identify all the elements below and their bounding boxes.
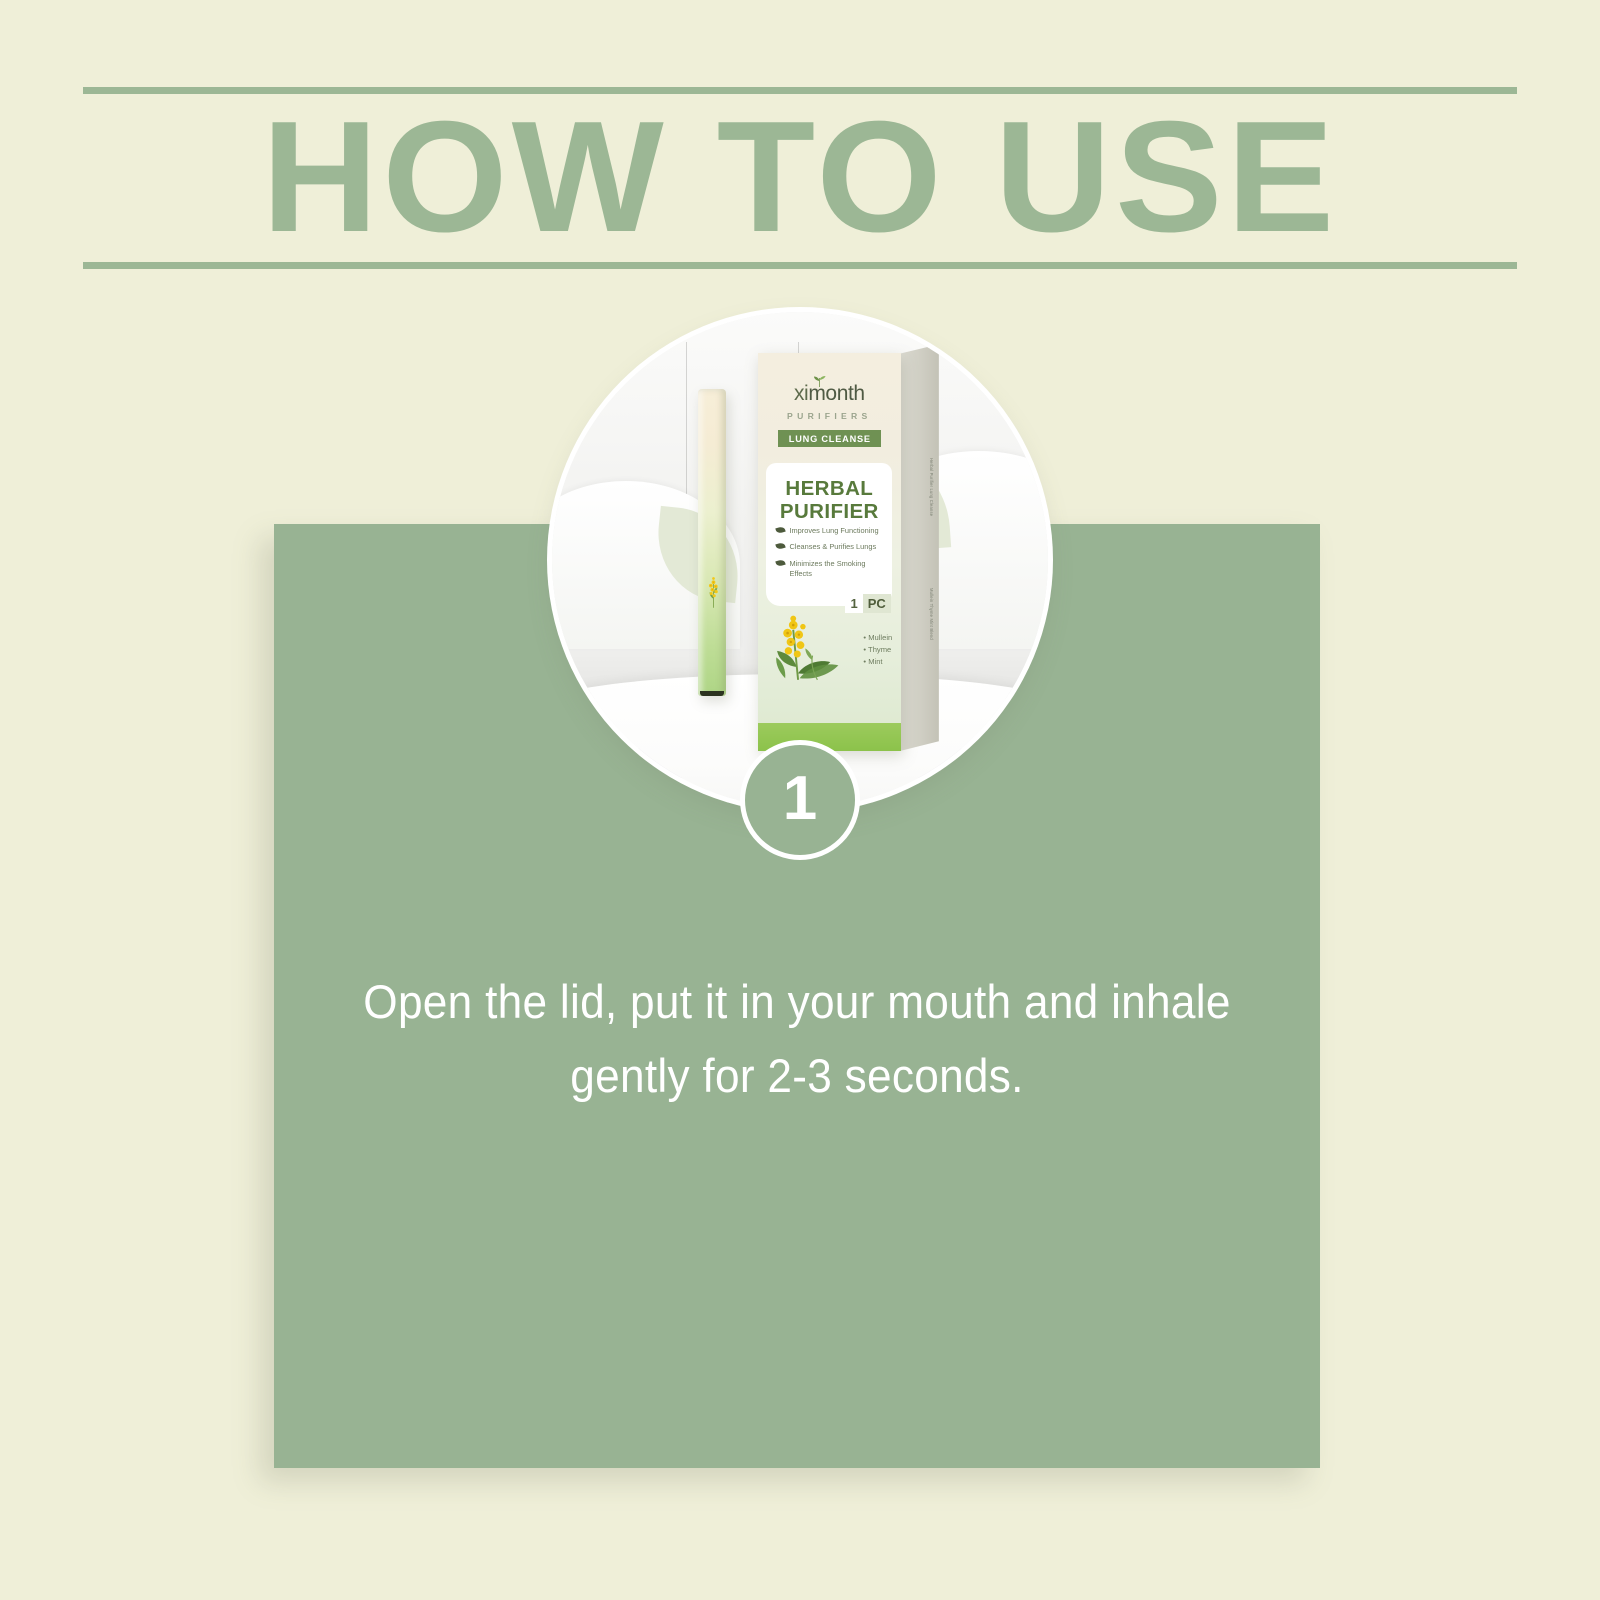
botanical-illustration: [761, 576, 850, 719]
title-rule-bottom: [83, 262, 1517, 269]
ingredient-item: • Mint: [863, 656, 892, 668]
mullein-flower-icon: [706, 567, 721, 616]
carton-side-text-upper: Herbal Purifier Lung Cleanse: [905, 458, 935, 516]
carton-side-panel: Herbal Purifier Lung Cleanse Mullein Thy…: [900, 344, 939, 751]
benefit-label: Improves Lung Functioning: [789, 526, 878, 535]
step-instruction-text: Open the lid, put it in your mouth and i…: [305, 965, 1288, 1113]
ingredient-list: • Mullein • Thyme • Mint: [863, 632, 892, 668]
brand-block: ximonth PURIFIERS LUNG CLEANSE: [758, 383, 901, 447]
brand-name: ximonth: [794, 383, 865, 404]
step-number-label: 1: [783, 768, 817, 830]
step-number-badge: 1: [740, 740, 860, 860]
product-scene: Herbal Purifier Lung Cleanse Mullein Thy…: [552, 312, 1048, 808]
quantity-unit: PC: [863, 594, 891, 613]
benefit-item: Improves Lung Functioning: [776, 526, 887, 535]
ingredient-item: • Thyme: [863, 644, 892, 656]
carton-front-panel: ximonth PURIFIERS LUNG CLEANSE HERBAL PU…: [758, 353, 901, 751]
leaf-bullet-icon: [776, 525, 786, 533]
page-title: HOW TO USE: [69, 95, 1532, 260]
sprout-icon: [812, 376, 827, 387]
leaf-bullet-icon: [776, 542, 786, 550]
brand-name-prefix: xi: [794, 382, 808, 405]
infographic-canvas: HOW TO USE: [0, 0, 1600, 1600]
product-photo: Herbal Purifier Lung Cleanse Mullein Thy…: [552, 312, 1048, 808]
product-title-line2: PURIFIER: [780, 500, 879, 523]
brand-subtitle: PURIFIERS: [758, 411, 901, 421]
benefit-item: Cleanses & Purifies Lungs: [776, 542, 887, 551]
ingredient-item: • Mullein: [863, 632, 892, 644]
carton-side-text-lower: Mullein Thyme Mint Blend: [905, 588, 935, 640]
benefit-label: Cleanses & Purifies Lungs: [789, 542, 876, 551]
inhaler-stick: [698, 389, 726, 697]
quantity-number: 1: [845, 594, 863, 613]
category-badge: LUNG CLEANSE: [778, 430, 881, 447]
product-title: HERBAL PURIFIER: [766, 477, 892, 523]
product-title-line1: HERBAL: [785, 477, 873, 500]
quantity-badge: 1 PC: [845, 594, 891, 613]
product-carton: Herbal Purifier Lung Cleanse Mullein Thy…: [758, 344, 939, 751]
leaf-bullet-icon: [776, 559, 786, 567]
